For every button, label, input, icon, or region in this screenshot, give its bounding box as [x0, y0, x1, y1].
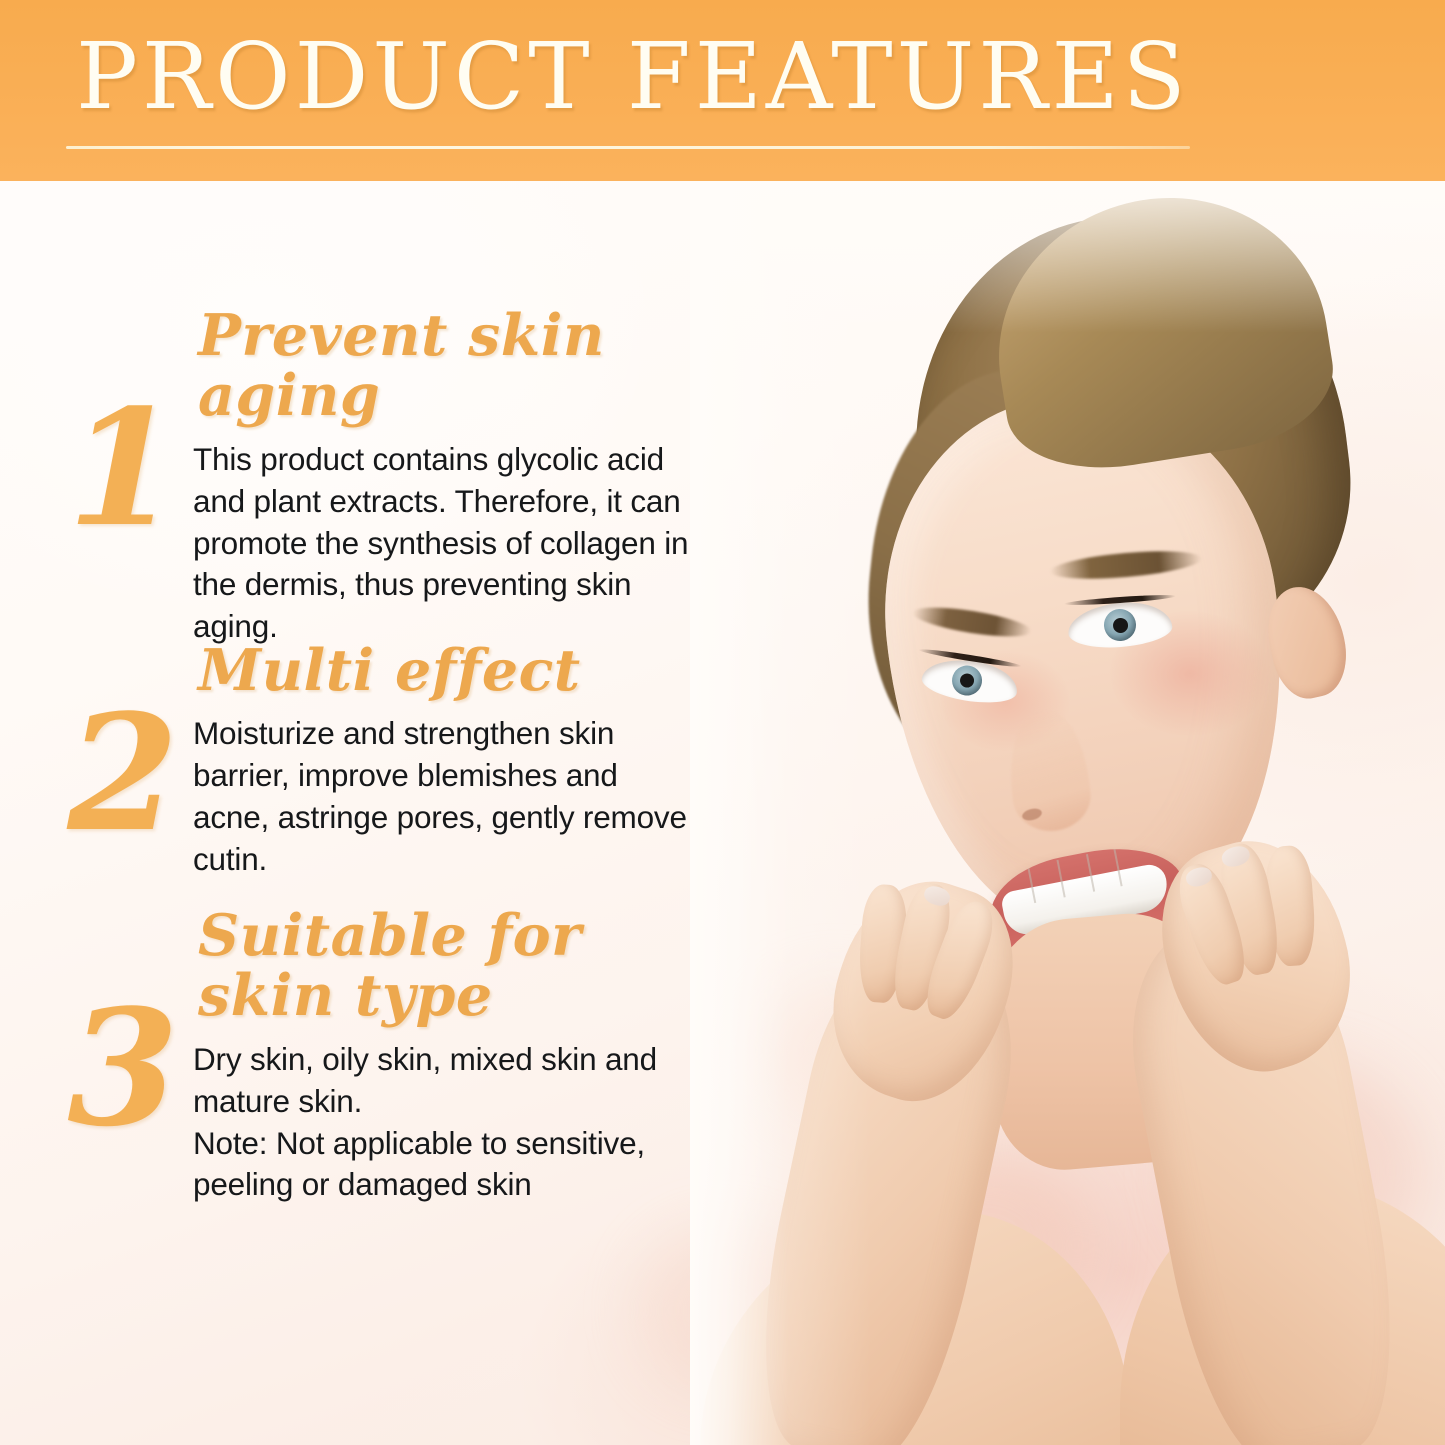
feature-item: 2 Multi effect Moisturize and strengthen…: [0, 641, 700, 881]
feature-body: Suitable for skin type Dry skin, oily sk…: [193, 906, 693, 1206]
feature-number: 2: [58, 693, 188, 853]
feature-title: Prevent skin aging: [198, 306, 693, 427]
feature-title: Suitable for skin type: [198, 906, 693, 1027]
feature-paragraph: This product contains glycolic acid and …: [193, 439, 693, 648]
feature-paragraph: Dry skin, oily skin, mixed skin and matu…: [193, 1039, 693, 1123]
feature-item: 3 Suitable for skin type Dry skin, oily …: [0, 906, 700, 1206]
feature-body: Multi effect Moisturize and strengthen s…: [193, 641, 693, 881]
feature-body: Prevent skin aging This product contains…: [193, 306, 693, 648]
feature-number: 1: [58, 388, 188, 548]
feature-paragraph: Moisturize and strengthen skin barrier, …: [193, 713, 693, 881]
product-features-infographic: PRODUCT FEATURES 1 Prevent skin aging Th…: [0, 0, 1445, 1445]
features-list: 1 Prevent skin aging This product contai…: [0, 181, 700, 1445]
header-band: PRODUCT FEATURES: [0, 0, 1445, 181]
feature-title: Multi effect: [198, 641, 693, 701]
feature-paragraph: Note: Not applicable to sensitive, peeli…: [193, 1123, 693, 1207]
feature-number: 3: [58, 988, 188, 1148]
page-title: PRODUCT FEATURES: [76, 31, 1190, 123]
model-photo: [690, 181, 1445, 1445]
feature-item: 1 Prevent skin aging This product contai…: [0, 306, 700, 648]
header-divider: [66, 146, 1190, 149]
